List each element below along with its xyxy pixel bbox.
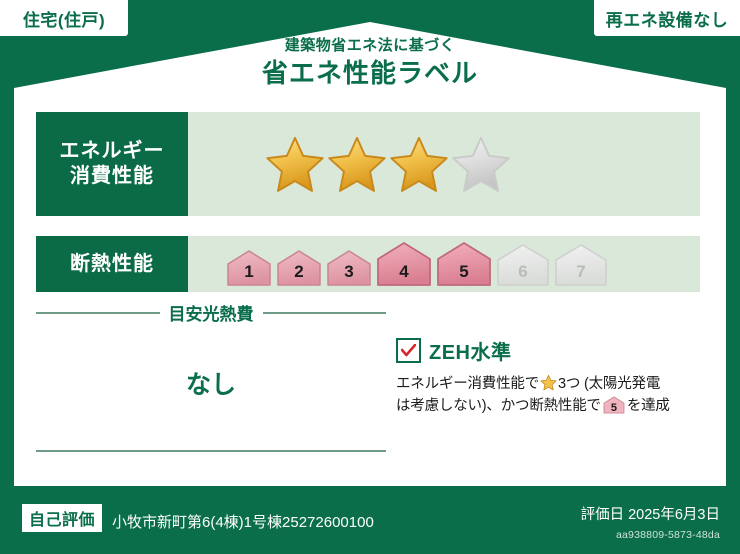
zeh-title: ZEH水準 xyxy=(429,336,512,365)
insulation-level-1: 1 xyxy=(226,249,272,287)
utility-cost-rule-right xyxy=(263,312,387,314)
badge-renewable-energy-text: 再エネ設備なし xyxy=(606,6,729,31)
checkbox-icon[interactable] xyxy=(396,338,421,363)
energy-performance-value xyxy=(188,112,700,216)
utility-cost-value: なし xyxy=(36,365,386,401)
insulation-level-4: 4 xyxy=(376,241,432,287)
insulation-level-2: 2 xyxy=(276,249,322,287)
star-icon-filled-2 xyxy=(326,134,388,194)
insulation-scale: 1 2 xyxy=(226,241,608,287)
utility-cost-title: 目安光熱費 xyxy=(169,300,254,325)
energy-performance-label-line1: エネルギー xyxy=(60,139,165,164)
energy-performance-row: エネルギー 消費性能 xyxy=(36,112,700,216)
star-rating xyxy=(264,134,512,194)
insulation-badge-inline: 5 xyxy=(603,396,625,414)
property-address: 小牧市新町第6(4棟)1号棟25272600100 xyxy=(112,511,374,532)
insulation-level-7-number: 7 xyxy=(554,262,608,282)
utility-cost-rule-bottom xyxy=(36,450,386,452)
zeh-desc-part2: 3つ (太陽光発電 xyxy=(558,376,660,392)
insulation-level-5-number: 5 xyxy=(436,262,492,282)
zeh-block: ZEH水準 エネルギー消費性能で3つ (太陽光発電は考慮しない)、かつ断熱性能で… xyxy=(396,336,712,418)
self-evaluation-badge: 自己評価 xyxy=(22,504,102,532)
evaluation-id: aa938809-5873-48da xyxy=(616,529,720,541)
zeh-description: エネルギー消費性能で3つ (太陽光発電は考慮しない)、かつ断熱性能で5を達成 xyxy=(396,373,712,418)
utility-cost-header: 目安光熱費 xyxy=(36,300,386,325)
insulation-level-3: 3 xyxy=(326,249,372,287)
footer: 自己評価 小牧市新町第6(4棟)1号棟25272600100 評価日 2025年… xyxy=(0,492,740,554)
badge-building-type-text: 住宅(住戸) xyxy=(23,6,105,31)
energy-performance-label: エネルギー 消費性能 xyxy=(36,112,188,216)
zeh-desc-part1: エネルギー消費性能で xyxy=(396,376,539,392)
badge-renewable-energy: 再エネ設備なし xyxy=(594,0,740,36)
insulation-performance-value: 1 2 xyxy=(188,236,700,292)
utility-cost-rule-left xyxy=(36,312,160,314)
insulation-level-7: 7 xyxy=(554,243,608,287)
insulation-performance-row: 断熱性能 1 xyxy=(36,236,700,292)
insulation-level-6: 6 xyxy=(496,243,550,287)
insulation-badge-inline-number: 5 xyxy=(603,403,625,414)
insulation-level-4-number: 4 xyxy=(376,262,432,282)
star-icon-filled-1 xyxy=(264,134,326,194)
insulation-performance-label: 断熱性能 xyxy=(36,236,188,292)
star-icon-inline xyxy=(540,374,557,391)
zeh-header: ZEH水準 xyxy=(396,336,712,365)
energy-performance-label-line2: 消費性能 xyxy=(70,164,154,189)
star-icon-filled-3 xyxy=(388,134,450,194)
badge-building-type: 住宅(住戸) xyxy=(0,0,128,36)
insulation-level-6-number: 6 xyxy=(496,262,550,282)
insulation-level-5: 5 xyxy=(436,241,492,287)
insulation-level-2-number: 2 xyxy=(276,262,322,282)
insulation-level-3-number: 3 xyxy=(326,262,372,282)
utility-cost-block: 目安光熱費 なし xyxy=(36,300,386,401)
energy-performance-label: 住宅(住戸) 再エネ設備なし 建築物省エネ法に基づく 省エネ性能ラベル エネルギ… xyxy=(0,0,740,554)
zeh-desc-part4: を達成 xyxy=(627,398,670,414)
star-icon-empty-4 xyxy=(450,134,512,194)
insulation-performance-label-text: 断熱性能 xyxy=(70,252,154,277)
zeh-desc-part3: は考慮しない)、かつ断熱性能で xyxy=(396,398,601,414)
evaluation-date: 評価日 2025年6月3日 xyxy=(581,503,720,524)
insulation-level-1-number: 1 xyxy=(226,262,272,282)
